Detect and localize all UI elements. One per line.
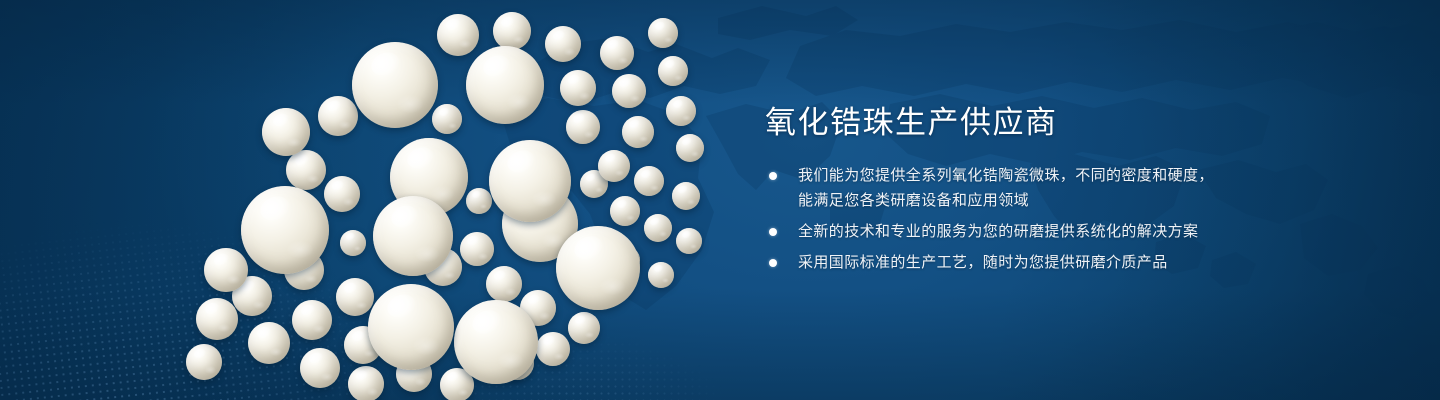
- bullet-text-line2: 能满足您各类研磨设备和应用领域: [798, 188, 1385, 213]
- zirconia-bead: [241, 186, 329, 274]
- zirconia-bead: [566, 110, 600, 144]
- bullet-dot-icon: [769, 259, 777, 267]
- zirconia-bead: [432, 104, 462, 134]
- zirconia-bead: [493, 12, 531, 50]
- zirconia-bead: [489, 140, 571, 222]
- zirconia-bead: [437, 14, 479, 56]
- zirconia-bead: [536, 332, 570, 366]
- zirconia-bead: [622, 116, 654, 148]
- zirconia-bead: [672, 182, 700, 210]
- bullet-dot-icon: [769, 228, 777, 236]
- zirconia-bead: [545, 26, 581, 62]
- list-item: 我们能为您提供全系列氧化锆陶瓷微珠，不同的密度和硬度， 能满足您各类研磨设备和应…: [765, 163, 1385, 213]
- zirconia-bead: [318, 96, 358, 136]
- zirconia-bead: [340, 230, 366, 256]
- zirconia-bead: [676, 134, 704, 162]
- zirconia-bead: [460, 232, 494, 266]
- bullet-text-line1: 全新的技术和专业的服务为您的研磨提供系统化的解决方案: [798, 223, 1198, 240]
- zirconia-bead: [676, 228, 702, 254]
- zirconia-bead: [644, 214, 672, 242]
- zirconia-bead: [600, 36, 634, 70]
- zirconia-bead: [373, 196, 453, 276]
- zirconia-bead: [348, 366, 384, 400]
- zirconia-bead-cluster-image: [0, 0, 760, 400]
- zirconia-bead: [286, 150, 326, 190]
- zirconia-bead: [336, 278, 374, 316]
- zirconia-bead: [466, 188, 492, 214]
- zirconia-bead: [666, 96, 696, 126]
- zirconia-bead: [196, 298, 238, 340]
- feature-bullet-list: 我们能为您提供全系列氧化锆陶瓷微珠，不同的密度和硬度， 能满足您各类研磨设备和应…: [765, 163, 1385, 275]
- zirconia-bead: [486, 266, 522, 302]
- list-item: 采用国际标准的生产工艺，随时为您提供研磨介质产品: [765, 250, 1385, 275]
- bullet-dot-icon: [769, 172, 777, 180]
- zirconia-bead: [648, 18, 678, 48]
- zirconia-bead: [186, 344, 222, 380]
- zirconia-bead: [248, 322, 290, 364]
- zirconia-bead: [612, 74, 646, 108]
- zirconia-bead: [610, 196, 640, 226]
- zirconia-bead: [300, 348, 340, 388]
- zirconia-bead: [466, 46, 544, 124]
- bullet-text-line1: 我们能为您提供全系列氧化锆陶瓷微珠，不同的密度和硬度，: [798, 167, 1214, 184]
- zirconia-bead: [634, 166, 664, 196]
- zirconia-bead: [556, 226, 640, 310]
- zirconia-bead: [560, 70, 596, 106]
- zirconia-bead: [658, 56, 688, 86]
- zirconia-bead: [262, 108, 310, 156]
- bullet-text-line1: 采用国际标准的生产工艺，随时为您提供研磨介质产品: [798, 254, 1168, 271]
- list-item: 全新的技术和专业的服务为您的研磨提供系统化的解决方案: [765, 219, 1385, 244]
- zirconia-bead: [292, 300, 332, 340]
- hero-banner: 氧化锆珠生产供应商 我们能为您提供全系列氧化锆陶瓷微珠，不同的密度和硬度， 能满…: [0, 0, 1440, 400]
- zirconia-bead: [648, 262, 674, 288]
- zirconia-bead: [568, 312, 600, 344]
- banner-content: 氧化锆珠生产供应商 我们能为您提供全系列氧化锆陶瓷微珠，不同的密度和硬度， 能满…: [765, 106, 1385, 275]
- zirconia-bead: [368, 284, 454, 370]
- zirconia-bead: [598, 150, 630, 182]
- zirconia-bead: [204, 248, 248, 292]
- zirconia-bead: [324, 176, 360, 212]
- page-title: 氧化锆珠生产供应商: [765, 106, 1385, 141]
- zirconia-bead: [454, 300, 538, 384]
- zirconia-bead: [352, 42, 438, 128]
